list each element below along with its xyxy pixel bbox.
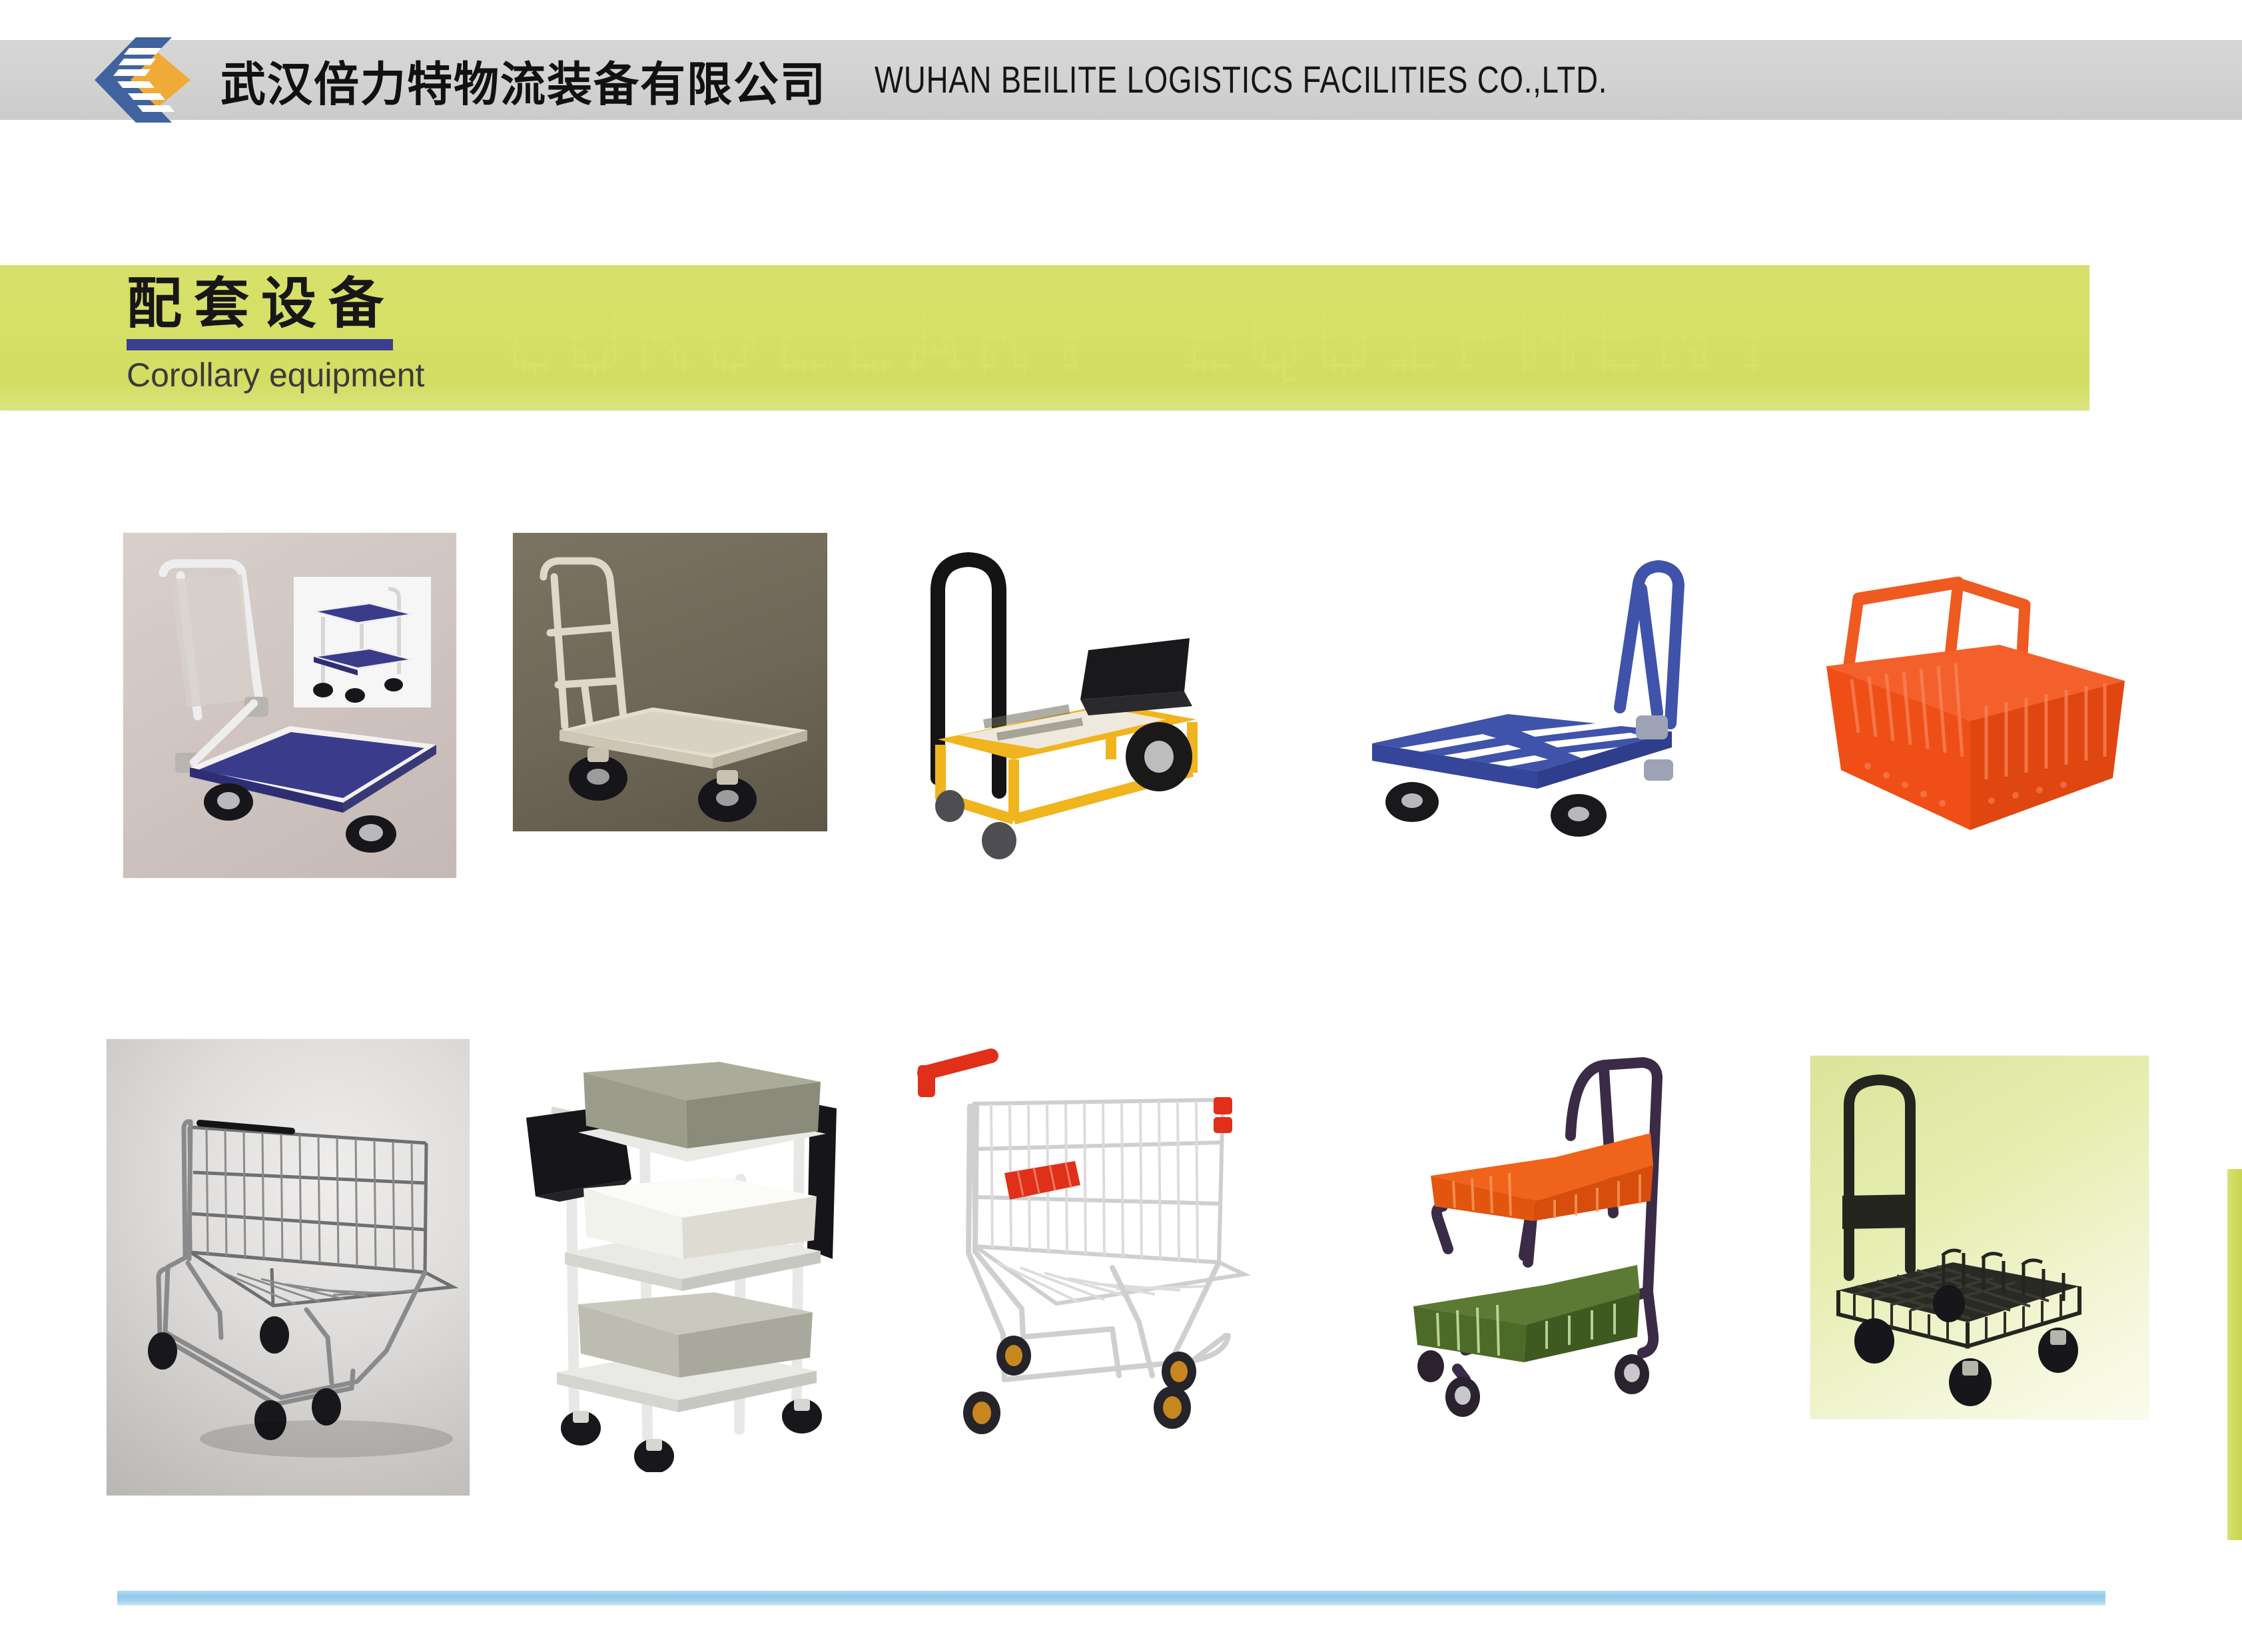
product-photo [513,533,827,831]
page-header: 武汉倍力特物流装备有限公司 WUHAN BEILITE LOGISTICS FA… [0,40,2242,120]
product-cell-convertible-hand-truck-yellow[interactable] [866,533,1306,906]
product-inset [294,577,431,707]
banner-subtitle-en: Corollary equipment [127,356,406,394]
product-row-top [0,533,2242,906]
company-name-cn: 武汉倍力特物流装备有限公司 [220,46,827,115]
banner-chinese-block: 配套设备 Corollary equipment [127,272,406,394]
banner-title-cn: 配套设备 [127,272,406,335]
product-photo [107,1039,470,1495]
product-photo [1812,566,2145,846]
product-cell-platform-trolley-blue-folding[interactable] [0,533,466,906]
product-cell-wire-platform-trolley-black[interactable] [1772,1029,2242,1495]
product-cell-service-cart-three-tier[interactable] [466,1029,866,1495]
product-photo [913,1042,1262,1479]
product-cell-shopping-cart-chrome[interactable] [0,1029,466,1495]
product-cell-platform-truck-steel-cream[interactable] [466,533,866,906]
product-cell-shopping-trolley-red-handle[interactable] [866,1029,1306,1495]
section-banner: 配套设备 Corollary equipment COROLLARY EQUIP… [0,265,2089,410]
product-photo [1810,1056,2149,1419]
company-name-en: WUHAN BEILITE LOGISTICS FACILITIES CO.,L… [875,58,1607,102]
banner-title-en-dotmatrix: COROLLARY EQUIPMENT [496,285,1791,392]
footer-rule [117,1591,2105,1605]
product-cell-platform-trolley-blue-slatted[interactable] [1306,533,1772,906]
product-cell-double-basket-trolley[interactable] [1306,1029,1772,1495]
product-photo [123,533,456,878]
product-cell-shopping-basket-orange[interactable] [1772,533,2242,906]
banner-rule-divider [127,339,393,350]
product-photo [1359,560,1722,873]
product-photo [1379,1049,1705,1449]
product-photo [520,1059,853,1472]
beilite-hexagon-logo-icon [92,33,195,127]
product-row-bottom [0,1029,2242,1495]
product-photo [914,545,1227,878]
